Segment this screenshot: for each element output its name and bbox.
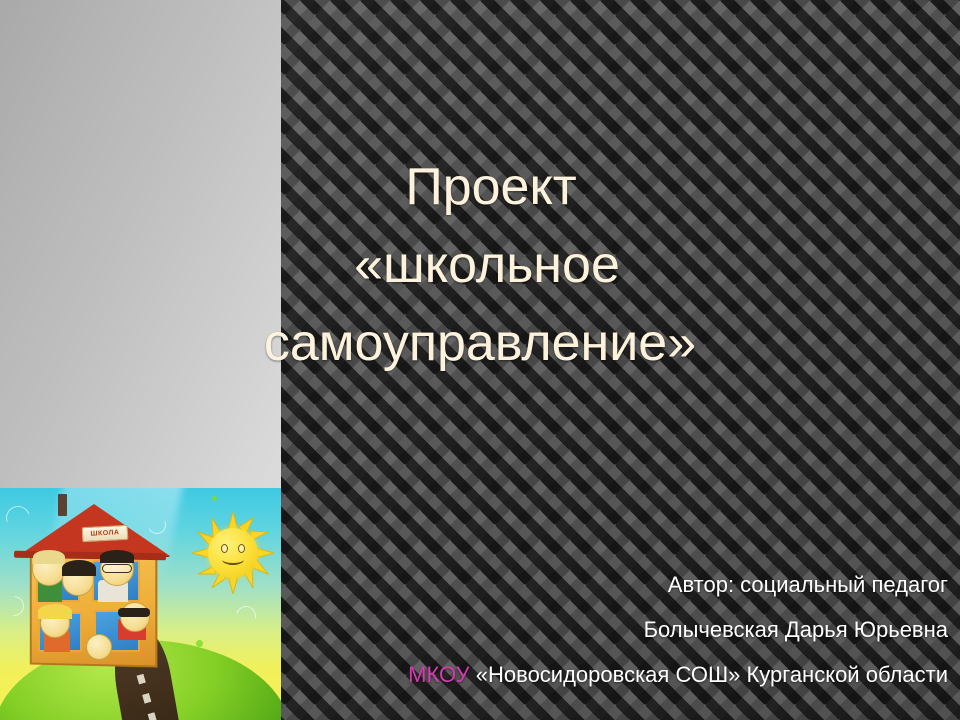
author-name-line: Болычевская Дарья Юрьевна (228, 607, 948, 652)
child-hair (33, 550, 65, 564)
sparkle-dot-icon (212, 496, 217, 501)
child-face (86, 634, 112, 660)
child-hair (38, 604, 72, 619)
title-line-2: «школьное (0, 226, 960, 304)
school-sign-label: ШКОЛА (90, 529, 119, 538)
child-hair (100, 550, 134, 563)
sun-eye-icon (238, 544, 245, 553)
organisation-abbreviation[interactable]: МКОУ (408, 662, 470, 687)
title-line-3: самоуправление» (0, 304, 960, 382)
child-hair (62, 560, 96, 576)
author-role-line: Автор: социальный педагог (228, 562, 948, 607)
sun-eye-icon (221, 544, 228, 553)
glasses-icon (102, 564, 132, 573)
author-credits: Автор: социальный педагог Болычевская Да… (228, 562, 948, 697)
presentation-slide: ШКОЛА Проект «школьное самоуправление» А… (0, 0, 960, 720)
swirl-icon (0, 592, 28, 620)
slide-title: Проект «школьное самоуправление» (0, 148, 960, 382)
organisation-line: МКОУ «Новосидоровская СОШ» Курганской об… (228, 652, 948, 697)
title-line-1: Проект (0, 148, 960, 226)
sunglasses-icon (118, 608, 150, 617)
child-face (120, 602, 150, 632)
school-sign: ШКОЛА (82, 525, 129, 542)
organisation-name: «Новосидоровская СОШ» Курганской области (476, 662, 948, 687)
chimney (58, 494, 67, 516)
